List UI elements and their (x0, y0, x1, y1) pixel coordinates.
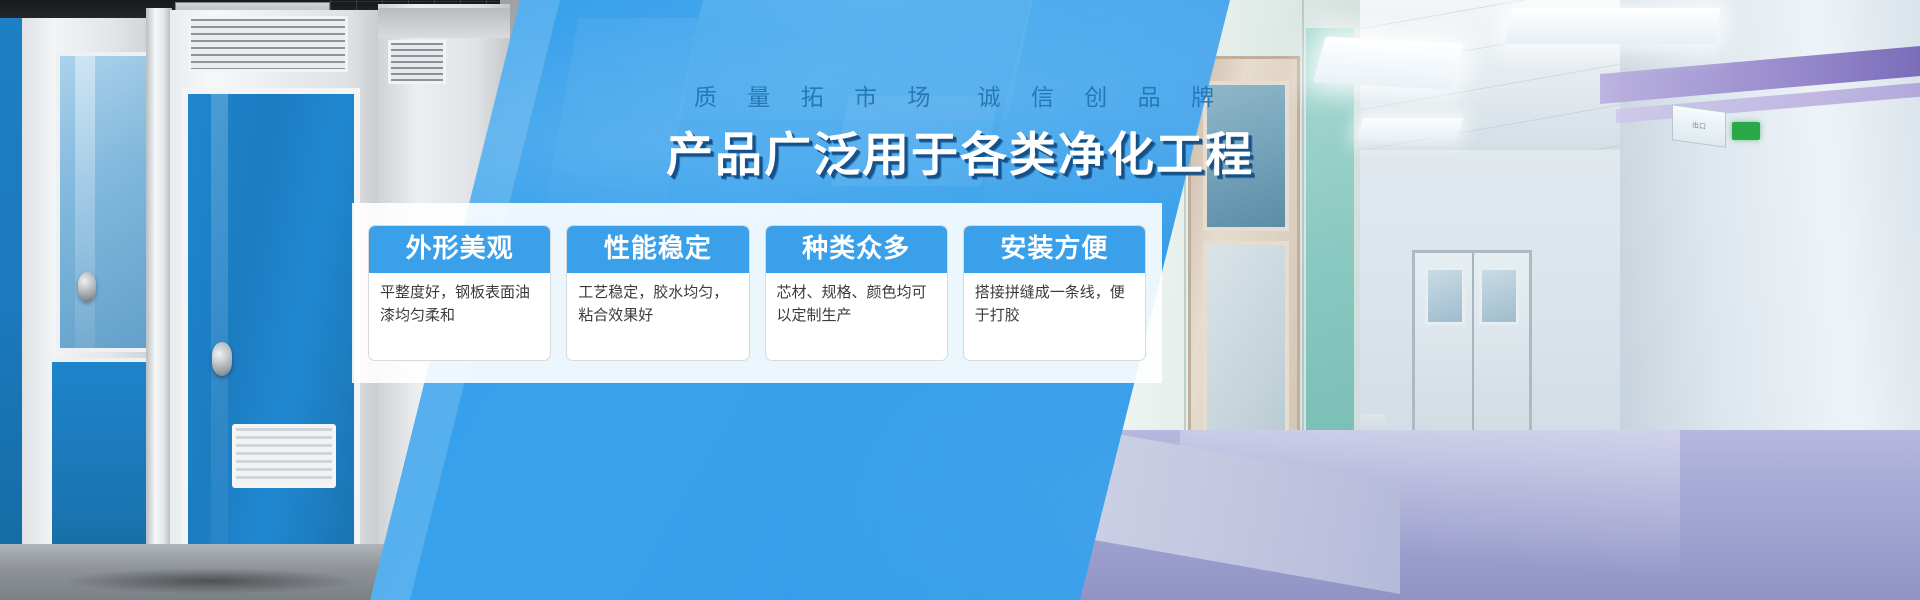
feature-card-3[interactable]: 种类众多 芯材、规格、颜色均可以定制生产 (765, 225, 948, 361)
feature-card-4[interactable]: 安装方便 搭接拼缝成一条线，便于打胶 (963, 225, 1146, 361)
feature-card-3-body: 芯材、规格、颜色均可以定制生产 (766, 273, 947, 360)
cabin-b-door-vent (232, 424, 336, 488)
feature-card-4-body: 搭接拼缝成一条线，便于打胶 (964, 273, 1145, 360)
far-door-window-right (1479, 267, 1519, 325)
corridor-far-double-doors (1412, 250, 1532, 450)
banner-headline: 产品广泛用于各类净化工程 (0, 116, 1920, 185)
feature-card-3-title: 种类众多 (766, 226, 947, 273)
cabin-a-handle (78, 272, 96, 302)
feature-card-2-body: 工艺稳定，胶水均匀，粘合效果好 (567, 273, 748, 360)
cabin-b-louver-vent (188, 16, 348, 72)
banner-tagline: 质 量 拓 市 场 诚 信 创 品 牌 (0, 78, 1920, 112)
feature-card-2-title: 性能稳定 (567, 226, 748, 273)
cabin-b-door-handle (212, 342, 232, 376)
cabin-c-top-trim (378, 8, 510, 38)
far-door-window-left (1425, 267, 1465, 325)
feature-card-2[interactable]: 性能稳定 工艺稳定，胶水均匀，粘合效果好 (566, 225, 749, 361)
feature-card-1-title: 外形美观 (369, 226, 550, 273)
promo-banner: 出口 质 量 拓 市 场 诚 信 创 品 牌 产品广泛用于各类净化工程 外形美观… (0, 0, 1920, 600)
feature-card-4-title: 安装方便 (964, 226, 1145, 273)
ceiling-light (1505, 8, 1721, 44)
feature-card-1-body: 平整度好，钢板表面油漆均匀柔和 (369, 273, 550, 360)
feature-card-1[interactable]: 外形美观 平整度好，钢板表面油漆均匀柔和 (368, 225, 551, 361)
floor-shadow (60, 568, 360, 594)
feature-cards-panel: 外形美观 平整度好，钢板表面油漆均匀柔和 性能稳定 工艺稳定，胶水均匀，粘合效果… (352, 203, 1162, 383)
